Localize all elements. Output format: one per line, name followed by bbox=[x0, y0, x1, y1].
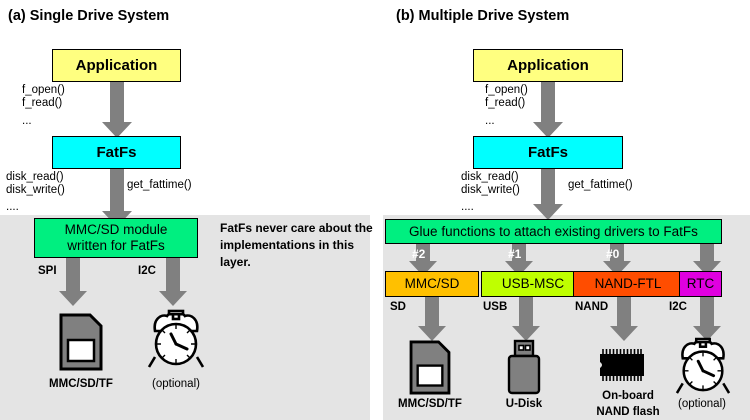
alarm-clock-icon bbox=[675, 337, 731, 402]
panel-b-arrow-mmcsd-to-device bbox=[417, 297, 447, 341]
panel-b-device-caption-card: MMC/SD/TF bbox=[385, 397, 475, 413]
panel-b-drive-number-1: #1 bbox=[508, 247, 521, 261]
panel-b-driver-box-rtc[interactable]: RTC bbox=[679, 271, 722, 297]
panel-b-drive-number-2: #2 bbox=[412, 247, 425, 261]
panel-b-drive-number-0: #0 bbox=[606, 247, 619, 261]
sd-card-icon bbox=[59, 313, 103, 376]
alarm-clock-icon bbox=[147, 309, 205, 376]
panel-a-api-f-read: f_read() bbox=[22, 97, 62, 111]
panel-b-title: (b) Multiple Drive System bbox=[396, 8, 569, 24]
panel-b-device-caption-nand-text: On-boardNAND flash bbox=[596, 390, 659, 418]
panel-a-api-f-open: f_open() bbox=[22, 84, 65, 98]
figure-canvas: (a) Single Drive System Application f_op… bbox=[0, 0, 750, 420]
panel-b-device-caption-clock: (optional) bbox=[666, 397, 738, 413]
panel-b-arrow-rtc-to-device bbox=[692, 297, 722, 341]
implementation-layer-note: FatFs never care about the implementatio… bbox=[220, 220, 380, 271]
panel-a-device-caption-clock: (optional) bbox=[140, 377, 212, 393]
panel-a-api-disk-ellipsis: .... bbox=[6, 201, 19, 215]
panel-b-bus-label-i2c: I2C bbox=[669, 301, 687, 314]
panel-b-arrow-app-to-fatfs bbox=[533, 82, 563, 138]
panel-a-title: (a) Single Drive System bbox=[8, 8, 169, 24]
panel-a-fatfs-box[interactable]: FatFs bbox=[52, 136, 181, 169]
panel-b-bus-label-usb: USB bbox=[483, 301, 507, 314]
panel-a-device-caption-card: MMC/SD/TF bbox=[36, 377, 126, 393]
panel-b-api-f-read: f_read() bbox=[485, 97, 525, 111]
panel-a-arrow-i2c bbox=[158, 258, 188, 306]
panel-b-bus-label-sd: SD bbox=[390, 301, 406, 314]
panel-b-device-caption-nand: On-boardNAND flash bbox=[578, 389, 678, 420]
panel-a-bus-label-i2c: I2C bbox=[138, 265, 156, 278]
panel-b-api-f-open: f_open() bbox=[485, 84, 528, 98]
panel-b-api-get-fattime: get_fattime() bbox=[568, 179, 633, 193]
panel-b-api-disk-ellipsis: .... bbox=[461, 201, 474, 215]
panel-a-mmcsd-module-label-line1: MMC/SD modulewritten for FatFs bbox=[65, 222, 168, 253]
panel-b-glue-box[interactable]: Glue functions to attach existing driver… bbox=[385, 219, 722, 244]
usb-stick-icon bbox=[505, 338, 543, 401]
panel-a-arrow-spi bbox=[58, 258, 88, 306]
panel-b-api-disk-read: disk_read() bbox=[461, 171, 519, 185]
panel-b-device-caption-udisk: U-Disk bbox=[494, 397, 554, 413]
panel-a-api-get-fattime: get_fattime() bbox=[127, 179, 192, 193]
panel-a-application-box[interactable]: Application bbox=[52, 49, 181, 82]
panel-b-driver-box-mmcsd[interactable]: MMC/SD bbox=[385, 271, 479, 297]
panel-a-mmcsd-module-box[interactable]: MMC/SD modulewritten for FatFs bbox=[34, 218, 198, 258]
panel-b-arrow-usbmsc-to-device bbox=[511, 297, 541, 341]
panel-a-bus-label-spi: SPI bbox=[38, 265, 57, 278]
panel-b-api-f-ellipsis: ... bbox=[485, 115, 495, 129]
panel-b-driver-box-usbmsc[interactable]: USB-MSC bbox=[481, 271, 585, 297]
panel-b-api-disk-write: disk_write() bbox=[461, 184, 520, 198]
panel-a-api-disk-write: disk_write() bbox=[6, 184, 65, 198]
panel-b-application-box[interactable]: Application bbox=[473, 49, 623, 82]
panel-a-api-f-ellipsis: ... bbox=[22, 115, 32, 129]
panel-b-bus-label-nand: NAND bbox=[575, 301, 608, 314]
panel-b-fatfs-box[interactable]: FatFs bbox=[473, 136, 623, 169]
panel-b-driver-box-nandftl[interactable]: NAND-FTL bbox=[573, 271, 683, 297]
sd-card-icon bbox=[409, 340, 451, 400]
panel-b-arrow-fatfs-to-glue bbox=[533, 169, 563, 220]
panel-a-api-disk-read: disk_read() bbox=[6, 171, 64, 185]
panel-a-arrow-app-to-fatfs bbox=[102, 82, 132, 138]
nand-flash-chip-icon bbox=[595, 346, 649, 389]
panel-b-arrow-nandftl-to-device bbox=[609, 297, 639, 341]
